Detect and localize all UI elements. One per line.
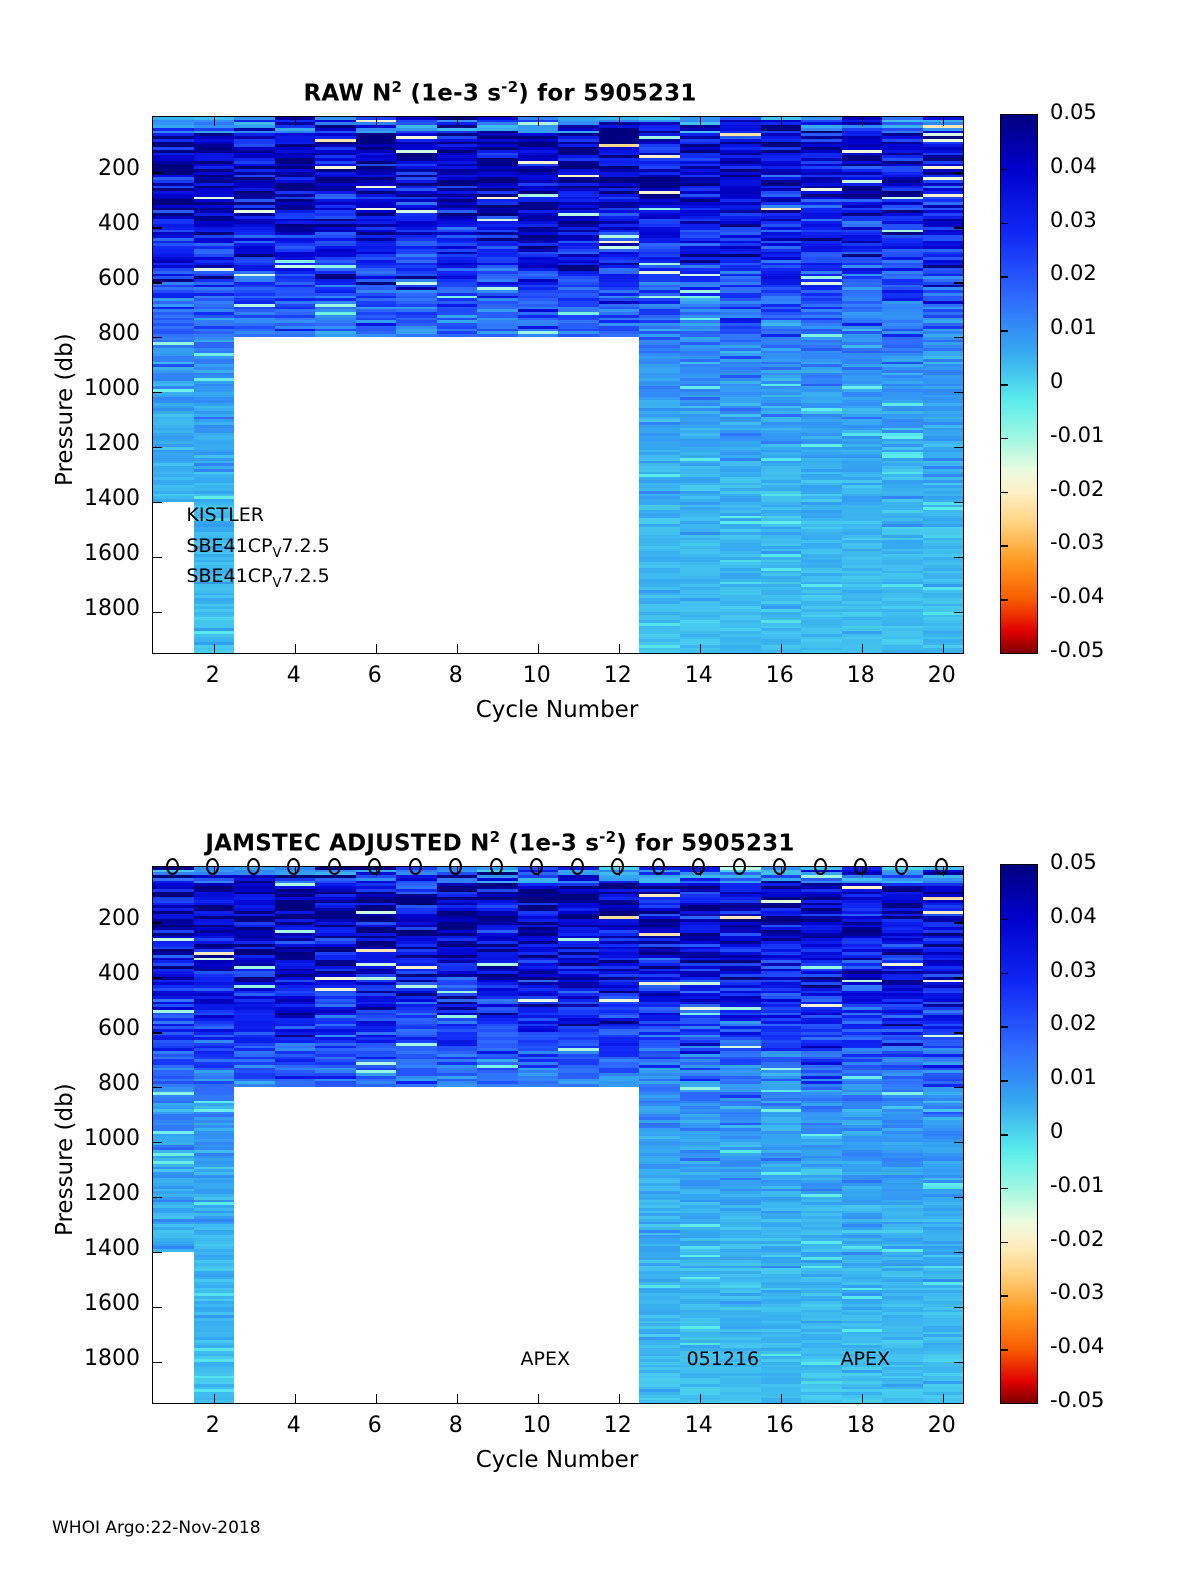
colorbar-tick — [1001, 545, 1008, 547]
y-tick — [153, 392, 162, 394]
panel-raw: RAW N2 (1e-3 s-2) for 5905231 2004006008… — [0, 0, 1200, 760]
cycle-marker — [652, 858, 665, 875]
plot-annotation: KISTLER — [186, 504, 264, 526]
y-tick-label: 400 — [22, 961, 140, 986]
colorbar-adjusted — [1000, 864, 1038, 1404]
y-tick — [153, 227, 162, 229]
cycle-marker — [571, 858, 584, 875]
y-tick-label: 1800 — [22, 1346, 140, 1371]
y-axis-title-adjusted: Pressure (db) — [52, 1083, 78, 1236]
colorbar-tick — [1001, 1295, 1008, 1297]
y-tick-label: 1600 — [22, 541, 140, 566]
x-tick — [862, 644, 864, 653]
y-tick-right — [954, 557, 963, 559]
y-tick — [153, 1032, 162, 1034]
colorbar-tick-label: 0 — [1050, 1119, 1063, 1143]
plot-annotation: APEX — [521, 1348, 570, 1370]
heatmap-column — [882, 117, 923, 653]
heatmap-column — [882, 867, 923, 1403]
y-tick — [153, 612, 162, 614]
y-tick-label: 600 — [22, 1016, 140, 1041]
heatmap-column — [761, 867, 802, 1403]
heatmap-column — [477, 117, 518, 337]
heatmap-column — [315, 117, 356, 337]
colorbar-tick-label: 0.02 — [1050, 1011, 1097, 1035]
colorbar-tick — [1001, 1349, 1008, 1351]
cycle-marker — [895, 858, 908, 875]
y-tick-right — [954, 227, 963, 229]
y-tick-label: 1000 — [22, 376, 140, 401]
colorbar-tick — [1001, 1188, 1008, 1190]
x-tick-label: 12 — [578, 1413, 658, 1438]
x-tick-label: 10 — [497, 663, 577, 688]
heatmap-column — [234, 867, 275, 1087]
colorbar-raw — [1000, 114, 1038, 654]
x-tick-top — [619, 117, 621, 126]
y-tick-right — [954, 392, 963, 394]
colorbar-tick-label: 0.04 — [1050, 904, 1097, 928]
heatmap-adjusted — [153, 867, 963, 1403]
colorbar-tick-label: -0.05 — [1050, 1388, 1104, 1412]
x-tick — [862, 1394, 864, 1403]
x-tick-top — [295, 117, 297, 126]
colorbar-tick — [1001, 384, 1008, 386]
x-tick-label: 2 — [173, 663, 253, 688]
heatmap-column — [801, 117, 842, 653]
plot-title-adjusted: JAMSTEC ADJUSTED N2 (1e-3 s-2) for 59052… — [0, 828, 1000, 857]
x-tick — [214, 1394, 216, 1403]
heatmap-column — [437, 867, 478, 1087]
x-tick-label: 10 — [497, 1413, 577, 1438]
y-tick-right — [954, 1307, 963, 1309]
colorbar-tick — [1001, 169, 1008, 171]
colorbar-tick-label: 0.03 — [1050, 208, 1097, 232]
heatmap-column — [396, 117, 437, 337]
colorbar-tick-label: -0.02 — [1050, 477, 1104, 501]
x-tick-label: 20 — [902, 1413, 982, 1438]
heatmap-column — [599, 117, 640, 337]
cycle-marker — [490, 858, 503, 875]
colorbar-tick — [1001, 1080, 1008, 1082]
y-tick — [153, 447, 162, 449]
colorbar-tick — [1001, 330, 1008, 332]
heatmap-column — [356, 117, 397, 337]
heatmap-column — [234, 117, 275, 337]
x-tick — [376, 1394, 378, 1403]
heatmap-column — [275, 867, 316, 1087]
y-tick-right — [954, 502, 963, 504]
heatmap-column — [518, 117, 559, 337]
x-tick — [700, 1394, 702, 1403]
heatmap-column — [923, 117, 964, 653]
x-tick-top — [862, 117, 864, 126]
y-tick-right — [954, 172, 963, 174]
x-tick-top — [943, 117, 945, 126]
y-tick-right — [954, 977, 963, 979]
colorbar-tick — [1001, 276, 1008, 278]
y-tick-right — [954, 1032, 963, 1034]
y-tick-right — [954, 447, 963, 449]
y-tick-right — [954, 1142, 963, 1144]
cycle-marker — [409, 858, 422, 875]
y-tick — [153, 1252, 162, 1254]
y-tick-right — [954, 922, 963, 924]
y-tick — [153, 1142, 162, 1144]
y-tick-label: 200 — [22, 156, 140, 181]
x-tick-top — [538, 117, 540, 126]
colorbar-tick-label: 0.03 — [1050, 958, 1097, 982]
cycle-marker — [166, 858, 179, 875]
x-tick — [538, 644, 540, 653]
heatmap-column — [801, 867, 842, 1403]
heatmap-column — [720, 117, 761, 653]
y-tick — [153, 977, 162, 979]
y-tick-label: 800 — [22, 321, 140, 346]
plot-annotation: SBE41CPV7.2.5 — [186, 565, 329, 591]
x-tick-label: 18 — [821, 663, 901, 688]
x-axis-title-adjusted: Cycle Number — [152, 1447, 962, 1473]
colorbar-tick-label: -0.01 — [1050, 1173, 1104, 1197]
colorbar-tick — [1001, 1026, 1008, 1028]
heatmap-column — [720, 867, 761, 1403]
heatmap-column — [842, 867, 883, 1403]
y-tick-right — [954, 1197, 963, 1199]
y-tick — [153, 502, 162, 504]
colorbar-tick-label: 0.05 — [1050, 850, 1097, 874]
y-tick-label: 400 — [22, 211, 140, 236]
heatmap-column — [315, 867, 356, 1087]
footer-credit: WHOI Argo:22-Nov-2018 — [52, 1518, 261, 1538]
y-tick-label: 200 — [22, 906, 140, 931]
y-tick — [153, 337, 162, 339]
x-tick — [943, 644, 945, 653]
x-tick — [619, 1394, 621, 1403]
y-tick — [153, 282, 162, 284]
heatmap-column — [477, 867, 518, 1087]
x-tick-top — [457, 117, 459, 126]
x-tick-top — [214, 117, 216, 126]
cycle-marker — [328, 858, 341, 875]
plot-annotation: SBE41CPV7.2.5 — [186, 535, 329, 561]
colorbar-tick-label: -0.01 — [1050, 423, 1104, 447]
x-tick-label: 6 — [335, 1413, 415, 1438]
x-tick — [943, 1394, 945, 1403]
y-tick-label: 1200 — [22, 431, 140, 456]
heatmap-column — [153, 117, 194, 502]
x-tick-label: 2 — [173, 1413, 253, 1438]
x-tick-label: 4 — [254, 663, 334, 688]
heatmap-column — [437, 117, 478, 337]
panel-adjusted: JAMSTEC ADJUSTED N2 (1e-3 s-2) for 59052… — [0, 745, 1200, 1505]
x-tick-label: 16 — [740, 1413, 820, 1438]
colorbar-tick — [1001, 1134, 1008, 1136]
colorbar-tick-label: 0.05 — [1050, 100, 1097, 124]
x-tick-top — [700, 117, 702, 126]
plot-title-raw: RAW N2 (1e-3 s-2) for 5905231 — [0, 78, 1000, 107]
x-tick-label: 14 — [659, 663, 739, 688]
heatmap-column — [923, 867, 964, 1403]
y-tick — [153, 1362, 162, 1364]
colorbar-tick-label: 0 — [1050, 369, 1063, 393]
colorbar-tick-label: -0.04 — [1050, 1334, 1104, 1358]
x-tick-label: 18 — [821, 1413, 901, 1438]
heatmap-column — [194, 867, 235, 1403]
heatmap-column — [680, 117, 721, 653]
colorbar-tick-label: 0.01 — [1050, 315, 1097, 339]
x-axis-title-raw: Cycle Number — [152, 697, 962, 723]
x-tick-label: 20 — [902, 663, 982, 688]
heatmap-column — [356, 867, 397, 1087]
x-tick-label: 14 — [659, 1413, 739, 1438]
x-tick — [538, 1394, 540, 1403]
x-tick-top — [376, 117, 378, 126]
x-tick-top — [781, 117, 783, 126]
colorbar-tick — [1001, 599, 1008, 601]
colorbar-tick-label: 0.02 — [1050, 261, 1097, 285]
plot-area-adjusted — [152, 866, 964, 1404]
heatmap-column — [842, 117, 883, 653]
y-tick-right — [954, 337, 963, 339]
x-tick — [295, 644, 297, 653]
y-tick-right — [954, 1362, 963, 1364]
colorbar-tick-label: -0.04 — [1050, 584, 1104, 608]
x-tick — [376, 644, 378, 653]
y-tick-label: 1400 — [22, 1236, 140, 1261]
x-tick-label: 16 — [740, 663, 820, 688]
y-tick-label: 1600 — [22, 1291, 140, 1316]
colorbar-tick-label: 0.04 — [1050, 154, 1097, 178]
heatmap-column — [558, 867, 599, 1087]
x-tick-label: 12 — [578, 663, 658, 688]
y-tick-label: 1200 — [22, 1181, 140, 1206]
y-tick-right — [954, 612, 963, 614]
heatmap-column — [518, 867, 559, 1087]
colorbar-tick — [1001, 919, 1008, 921]
x-tick — [457, 644, 459, 653]
colorbar-tick — [1001, 973, 1008, 975]
y-axis-title-raw: Pressure (db) — [52, 333, 78, 486]
heatmap-column — [558, 117, 599, 337]
x-tick — [295, 1394, 297, 1403]
colorbar-tick — [1001, 1242, 1008, 1244]
y-tick — [153, 922, 162, 924]
heatmap-column — [275, 117, 316, 337]
heatmap-column — [599, 867, 640, 1087]
x-tick — [700, 644, 702, 653]
plot-annotation: APEX — [841, 1348, 890, 1370]
colorbar-tick-label: -0.05 — [1050, 638, 1104, 662]
y-tick — [153, 557, 162, 559]
colorbar-tick-label: -0.03 — [1050, 530, 1104, 554]
colorbar-tick-label: -0.03 — [1050, 1280, 1104, 1304]
heatmap-column — [153, 867, 194, 1252]
plot-annotation: 051216 — [687, 1348, 760, 1370]
x-tick — [619, 644, 621, 653]
cycle-marker — [814, 858, 827, 875]
y-tick — [153, 1197, 162, 1199]
y-tick-label: 600 — [22, 266, 140, 291]
colorbar-tick — [1001, 438, 1008, 440]
colorbar-tick-label: 0.01 — [1050, 1065, 1097, 1089]
x-tick-label: 4 — [254, 1413, 334, 1438]
y-tick-right — [954, 1252, 963, 1254]
y-tick-right — [954, 282, 963, 284]
cycle-marker — [733, 858, 746, 875]
heatmap-column — [680, 867, 721, 1403]
y-tick — [153, 172, 162, 174]
y-tick-label: 1000 — [22, 1126, 140, 1151]
y-tick-right — [954, 1087, 963, 1089]
x-tick — [781, 644, 783, 653]
x-tick — [214, 644, 216, 653]
x-tick-label: 8 — [416, 1413, 496, 1438]
colorbar-tick — [1001, 223, 1008, 225]
y-tick-label: 1800 — [22, 596, 140, 621]
x-tick-label: 8 — [416, 663, 496, 688]
heatmap-column — [761, 117, 802, 653]
colorbar-tick-label: -0.02 — [1050, 1227, 1104, 1251]
heatmap-column — [639, 867, 680, 1403]
x-tick-label: 6 — [335, 663, 415, 688]
heatmap-column — [396, 867, 437, 1087]
cycle-marker — [247, 858, 260, 875]
y-tick-label: 1400 — [22, 486, 140, 511]
colorbar-tick — [1001, 492, 1008, 494]
x-tick — [457, 1394, 459, 1403]
y-tick — [153, 1087, 162, 1089]
x-tick — [781, 1394, 783, 1403]
y-tick — [153, 1307, 162, 1309]
heatmap-column — [639, 117, 680, 653]
y-tick-label: 800 — [22, 1071, 140, 1096]
